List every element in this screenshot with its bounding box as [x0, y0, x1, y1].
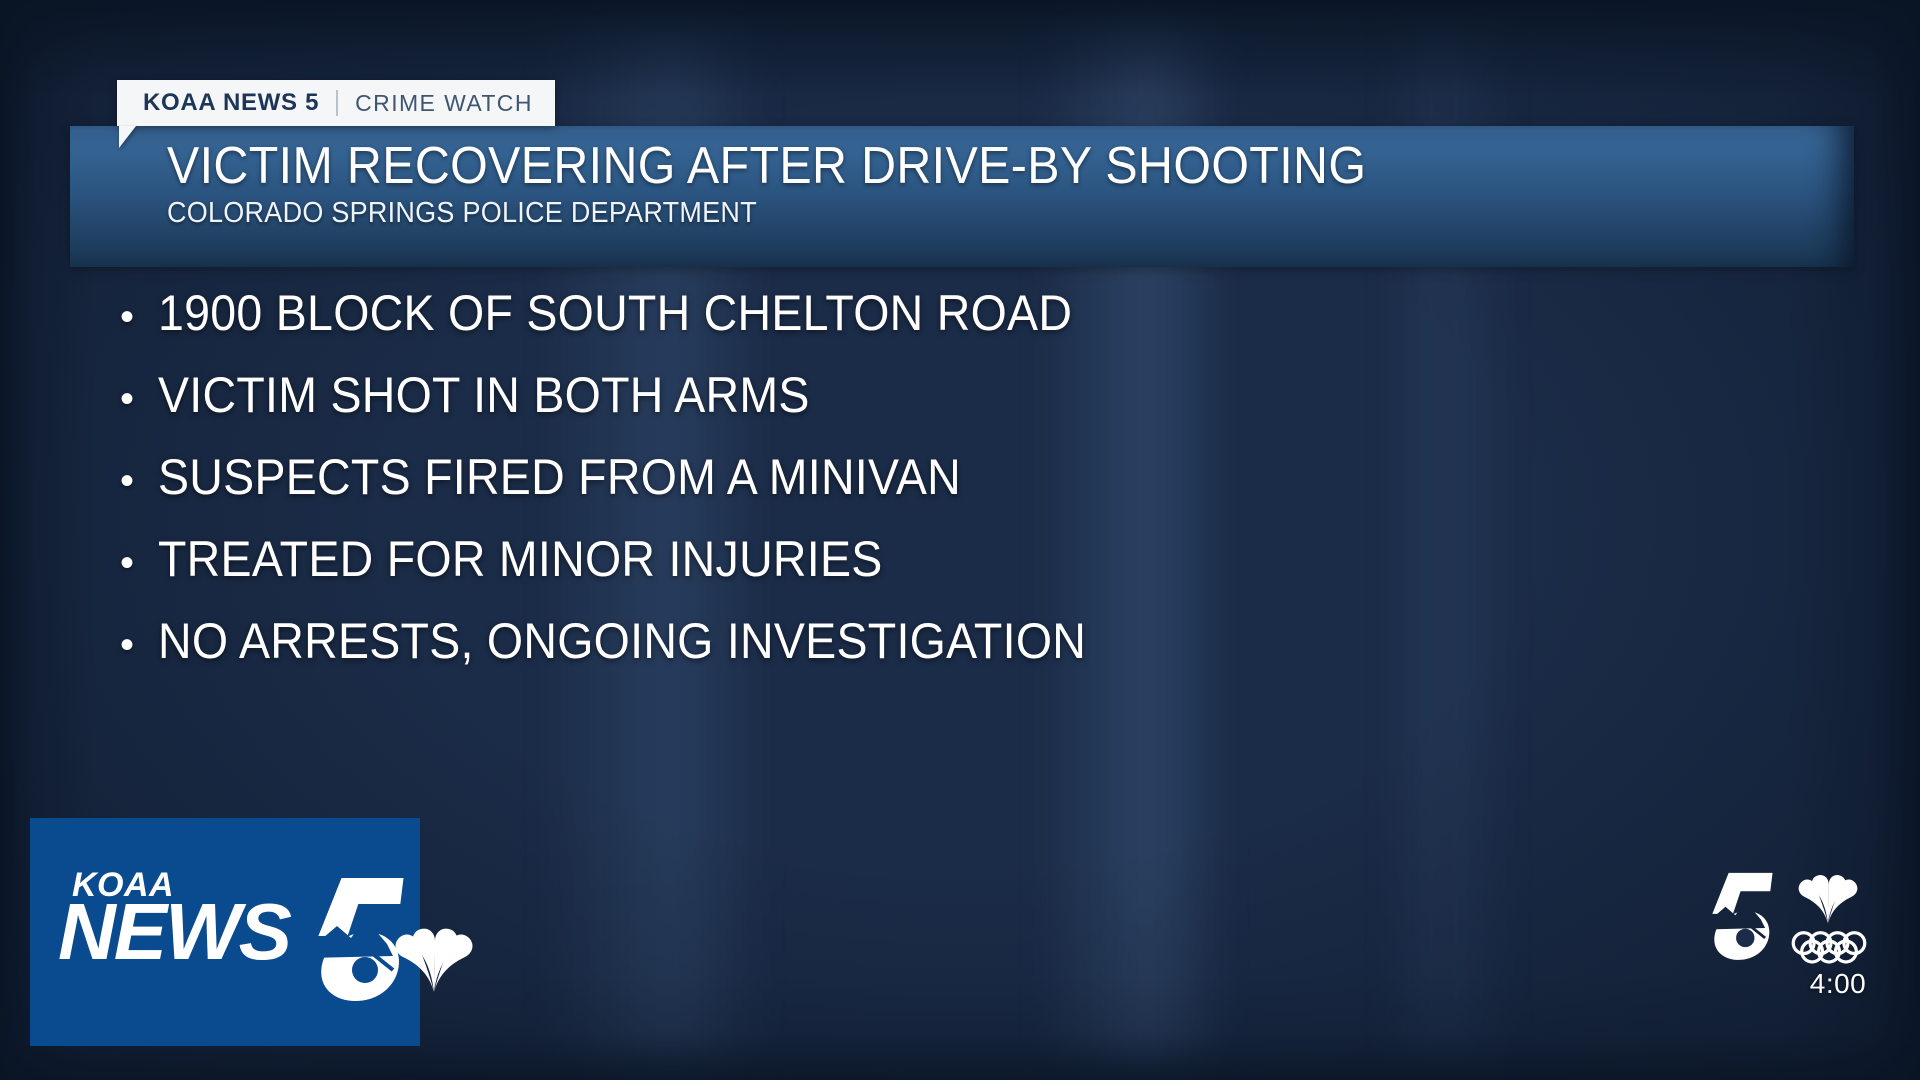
koaa-news-5-logo: KOAA NEWS [58, 866, 478, 1006]
bug-nbc-peacock-icon [1792, 870, 1864, 928]
bullet-dot-icon: • [120, 543, 158, 583]
bullet-list: • 1900 BLOCK OF SOUTH CHELTON ROAD • VIC… [120, 284, 1820, 694]
list-item-label: SUSPECTS FIRED FROM A MINIVAN [158, 448, 961, 506]
crime-watch-tab: KOAA NEWS 5 CRIME WATCH [117, 80, 555, 126]
tab-pointer-tail [119, 126, 136, 148]
bullet-dot-icon: • [120, 297, 158, 337]
channel-bug: 4:00 [1700, 860, 1890, 1020]
list-item: • VICTIM SHOT IN BOTH ARMS [120, 366, 1820, 448]
tab-section-label: CRIME WATCH [355, 90, 533, 117]
list-item: • NO ARRESTS, ONGOING INVESTIGATION [120, 612, 1820, 694]
list-item: • SUSPECTS FIRED FROM A MINIVAN [120, 448, 1820, 530]
bug-channel-five-icon [1700, 860, 1792, 972]
tab-brand-label: KOAA NEWS 5 [143, 89, 319, 117]
olympic-rings-icon [1790, 930, 1868, 964]
bullet-dot-icon: • [120, 461, 158, 501]
page-title: VICTIM RECOVERING AFTER DRIVE-BY SHOOTIN… [167, 139, 1702, 193]
list-item-label: 1900 BLOCK OF SOUTH CHELTON ROAD [158, 284, 1072, 342]
broadcast-time-label: 4:00 [1788, 968, 1888, 1000]
list-item: • 1900 BLOCK OF SOUTH CHELTON ROAD [120, 284, 1820, 366]
bullet-dot-icon: • [120, 625, 158, 665]
logo-wordmark: NEWS [58, 892, 290, 972]
broadcast-screen: KOAA NEWS 5 CRIME WATCH VICTIM RECOVERIN… [0, 0, 1920, 1080]
bullet-dot-icon: • [120, 379, 158, 419]
list-item-label: VICTIM SHOT IN BOTH ARMS [158, 366, 810, 424]
list-item-label: NO ARRESTS, ONGOING INVESTIGATION [158, 612, 1086, 670]
nbc-peacock-icon [391, 922, 477, 998]
page-subtitle: COLORADO SPRINGS POLICE DEPARTMENT [167, 197, 1702, 230]
headline-text-group: VICTIM RECOVERING AFTER DRIVE-BY SHOOTIN… [167, 139, 1817, 230]
list-item: • TREATED FOR MINOR INJURIES [120, 530, 1820, 612]
list-item-label: TREATED FOR MINOR INJURIES [158, 530, 883, 588]
tab-divider [336, 90, 338, 116]
